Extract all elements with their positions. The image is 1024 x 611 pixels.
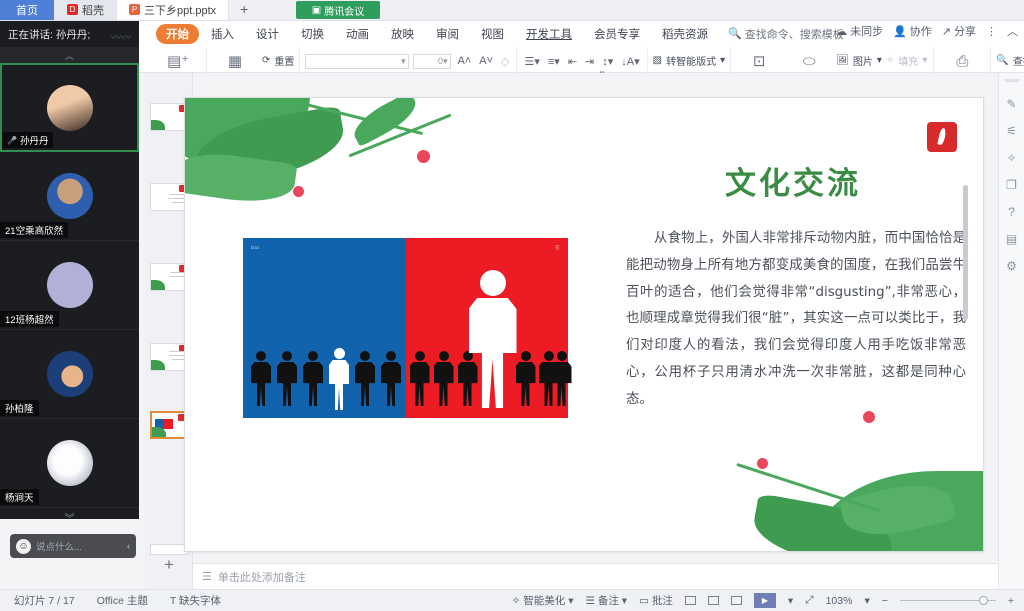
share-icon: ↗ (942, 25, 951, 38)
pictogram-figure (381, 351, 401, 406)
find-label: 查找 (1013, 53, 1024, 68)
comments-button[interactable]: ▭ 批注 (639, 593, 673, 608)
zoom-chevron-down-icon[interactable]: ▾ (864, 595, 869, 607)
cloud-sync-icon: ☁ (836, 25, 847, 38)
meeting-collapse-up-button[interactable]: ︿ (0, 47, 139, 63)
participant-name: 孙柏隆 (5, 401, 34, 415)
thumbnail-text-line (172, 202, 184, 203)
picture-button[interactable]: 🖼 图片 ▾ (836, 53, 882, 68)
properties-icon[interactable]: ⚟ (1006, 124, 1017, 138)
thumbnail-slide-4[interactable] (150, 263, 188, 291)
ribbon-search-placeholder: 查找命令、搜索模板 (745, 26, 844, 42)
notes-bar[interactable]: ☰ 单击此处添加备注 (193, 563, 998, 589)
settings-icon[interactable]: ⚙ (1006, 259, 1017, 273)
thumbnail-text-line (170, 194, 184, 195)
ribbon-search[interactable]: 🔍 查找命令、搜索模板 (728, 26, 844, 42)
remarks-button[interactable]: ☰ 备注 ▾ (586, 593, 628, 608)
rail-handle (1005, 79, 1019, 82)
grow-font-button[interactable]: A˄ (455, 55, 473, 67)
thumbnail-slide-7-current[interactable] (150, 411, 188, 439)
berry-icon (757, 458, 768, 469)
tab-presentation-label: 三下乡ppt.pptx (144, 2, 216, 18)
participant-tile-sunbolong[interactable]: 孙柏隆 (0, 330, 139, 419)
chat-collapse-arrow-icon[interactable]: ‹ (127, 541, 130, 551)
line-spacing-icon[interactable]: ↕▾ (600, 55, 615, 68)
font-size-input[interactable]: 0▾ (413, 54, 451, 69)
zoom-slider-track (900, 600, 996, 601)
document-tab-bar: 首页 D 稻壳 P 三下乡ppt.pptx + (0, 0, 1024, 21)
participant-name: 21空乘高欣然 (5, 223, 63, 237)
thumbnail-slide-3[interactable] (150, 183, 188, 211)
share-label: 分享 (954, 23, 976, 39)
add-slide-button[interactable]: + (145, 555, 193, 575)
increase-indent-icon[interactable]: ⇥ (583, 55, 596, 68)
brand-logo-icon (927, 122, 957, 152)
thumbnail-text-line (170, 276, 184, 277)
zoom-out-button[interactable]: − (882, 595, 888, 607)
pictogram-figure-large (469, 270, 517, 408)
pptx-icon: P (129, 4, 140, 15)
search-icon: 🔍 (996, 55, 1008, 66)
fit-to-window-icon[interactable]: ⤢ (805, 594, 813, 607)
beautify-chevron-down-icon: ▾ (568, 595, 573, 607)
pictogram-figure (434, 351, 454, 406)
pictogram-figure (277, 351, 297, 406)
picture-label: 图片 (853, 53, 873, 68)
thumbnail-scroll-box[interactable] (150, 544, 188, 555)
remarks-chevron-down-icon: ▾ (622, 595, 627, 607)
ribbon-tab-member[interactable]: 会员专享 (584, 24, 650, 44)
decrease-indent-icon[interactable]: ⇤ (566, 55, 579, 68)
tab-docer[interactable]: D 稻壳 (55, 0, 117, 20)
pictogram-left-panel: Out (243, 238, 406, 418)
find-button[interactable]: 🔍 查找 (996, 53, 1024, 68)
reset-icon: ⟳ (262, 55, 270, 66)
avatar (47, 173, 93, 219)
participant-tile-gaoxinran[interactable]: 21空乘高欣然 (0, 152, 139, 241)
notes-placeholder: 单击此处添加备注 (218, 569, 306, 585)
pictogram-figure-highlight (329, 348, 349, 410)
tab-home[interactable]: 首页 (0, 0, 55, 20)
participant-name-badge: 12班杨超然 (0, 311, 59, 327)
microphone-icon: 🎤 (7, 136, 17, 145)
picture-icon: 🖼 (836, 55, 849, 66)
ribbon-tab-animations[interactable]: 动画 (336, 24, 379, 44)
shape-icon: ⬭ (803, 53, 816, 70)
ribbon-tab-transitions[interactable]: 切换 (291, 24, 334, 44)
slide-surface[interactable]: 文化交流 从食物上，外国人非常排斥动物内脏，而中国恰恰是能把动物身上所有地方都变… (184, 97, 984, 552)
play-icon[interactable]: ▶ (754, 593, 776, 608)
meeting-icon: ▣ (312, 5, 321, 16)
collaborate-icon: 👤 (893, 25, 907, 38)
participant-tile-sundandan[interactable]: 🎤 孙丹丹 (0, 63, 139, 152)
normal-view-icon[interactable] (685, 596, 696, 605)
missing-font-button[interactable]: T 缺失字体 (170, 593, 221, 608)
docer-icon: D (67, 4, 78, 15)
reset-button[interactable]: ⟳ 重置 (262, 53, 294, 68)
collaborate-label: 协作 (910, 23, 932, 39)
participant-name-badge: 杨涧天 (0, 489, 39, 505)
participant-name: 杨涧天 (5, 490, 34, 504)
beautify-button[interactable]: ✧ 智能美化 ▾ (512, 593, 574, 608)
thumbnail-slide-2[interactable] (150, 103, 188, 131)
shrink-font-button[interactable]: A˅ (477, 55, 495, 67)
ribbon-tab-view[interactable]: 视图 (471, 24, 514, 44)
status-bar: 幻灯片 7 / 17 Office 主题 T 缺失字体 ✧ 智能美化 ▾ ☰ 备… (0, 589, 1024, 611)
emoji-icon[interactable]: ☺ (16, 539, 31, 554)
tab-home-label: 首页 (16, 2, 38, 18)
number-list-icon[interactable]: ≡▾ (546, 55, 562, 68)
meeting-video-panel: 正在讲话: 孙丹丹; 〰〰 ︿ 🎤 孙丹丹 21空乘高欣然 12班杨超然 (0, 21, 139, 519)
font-icon: T (170, 595, 176, 607)
clear-format-icon[interactable]: ◇ (499, 55, 511, 68)
slide-counter: 幻灯片 7 / 17 (14, 593, 75, 608)
new-tab-button[interactable]: + (229, 0, 259, 20)
slide-canvas-area: 文化交流 从食物上，外国人非常排斥动物内脏，而中国恰恰是能把动物身上所有地方都变… (193, 73, 998, 563)
layers-icon[interactable]: ❐ (1006, 178, 1017, 192)
thumbnail-text-line (168, 198, 184, 199)
sync-status-button[interactable]: ☁ 未同步 (836, 23, 883, 39)
beautify-label: 智能美化 (523, 595, 565, 607)
fill-icon: ✧ (886, 55, 894, 66)
remarks-label: 备注 (598, 595, 619, 607)
thumbnail-text-line (172, 359, 184, 360)
participant-name-badge: 21空乘高欣然 (0, 222, 68, 238)
participant-name-badge: 🎤 孙丹丹 (2, 132, 53, 148)
pictogram-figure (552, 351, 572, 406)
wps-presentation-window: 首页 D 稻壳 P 三下乡ppt.pptx + ▣ 腾讯会议 开始 插入 设计 … (0, 0, 1024, 611)
comments-icon: ▭ (639, 595, 649, 607)
thumbnail-text-line (169, 355, 184, 356)
participant-name-badge: 孙柏隆 (0, 400, 39, 416)
zoom-slider-knob[interactable] (979, 596, 988, 605)
resources-icon[interactable]: ▤ (1006, 232, 1017, 246)
shapes-panel-icon[interactable]: ✎ (1006, 97, 1016, 111)
zoom-level-label[interactable]: 103% (826, 595, 853, 607)
berry-icon (293, 186, 304, 197)
leaf-decoration-icon (150, 360, 165, 371)
ribbon-right-actions: ☁ 未同步 👤 协作 ↗ 分享 ⋮ ︿ (836, 23, 1018, 39)
theme-label[interactable]: Office 主题 (97, 593, 148, 608)
leaf-decoration-icon (150, 120, 165, 131)
tab-docer-label: 稻壳 (82, 2, 104, 18)
slide-image-pictogram[interactable]: Out (243, 238, 568, 418)
beautify-icon: ✧ (512, 595, 521, 607)
ribbon-collapse-button[interactable]: ︿ (1007, 23, 1018, 39)
fill-chevron-down-icon: ▾ (922, 55, 927, 66)
sync-status-label: 未同步 (850, 23, 883, 39)
collaborate-button[interactable]: 👤 协作 (893, 23, 932, 39)
ribbon-tab-insert[interactable]: 插入 (201, 24, 244, 44)
font-size-value: 0 (438, 56, 443, 66)
leaf-decoration-icon (150, 427, 166, 439)
font-name-input[interactable]: ▾ (305, 54, 409, 69)
fill-button[interactable]: ✧ 填充 ▾ (886, 53, 928, 68)
berry-icon (417, 150, 430, 163)
ribbon-tab-slideshow[interactable]: 放映 (381, 24, 424, 44)
reading-view-icon[interactable] (731, 596, 742, 605)
reset-label: 重置 (274, 53, 294, 68)
avatar (47, 440, 93, 486)
pictogram-figure (410, 351, 430, 406)
meeting-speaking-label: 正在讲话: 孙丹丹; (8, 27, 90, 42)
pictogram-figure (251, 351, 271, 406)
participant-name: 孙丹丹 (20, 133, 49, 147)
meeting-speaking-header: 正在讲话: 孙丹丹; 〰〰 (0, 21, 139, 47)
picture-chevron-down-icon: ▾ (877, 55, 882, 66)
smart-typeset-icon: ▧ (653, 55, 662, 66)
thumbnail-slide-5[interactable] (150, 343, 188, 371)
zoom-slider[interactable] (900, 600, 996, 601)
notes-icon: ☰ (202, 570, 212, 583)
ribbon-tab-docer-resource[interactable]: 稻壳资源 (652, 24, 718, 44)
right-tool-rail: ✎ ⚟ ✧ ❐ ? ▤ ⚙ (998, 73, 1024, 589)
zoom-in-button[interactable]: + (1008, 595, 1014, 607)
new-slide-icon: ▤⁺ (167, 52, 189, 70)
avatar (47, 351, 93, 397)
status-right: ✧ 智能美化 ▾ ☰ 备注 ▾ ▭ 批注 ▶ ▾ ⤢ 103% ▾ − (512, 593, 1024, 608)
pictogram-figure (355, 351, 375, 406)
chat-input-placeholder[interactable]: 说点什么... (36, 539, 122, 553)
smart-typeset-chevron-down-icon: ▾ (720, 55, 725, 66)
participant-tile-yangjiantian[interactable]: 杨涧天 (0, 419, 139, 508)
slide-sorter-icon[interactable] (708, 596, 719, 605)
pictogram-figure (303, 351, 323, 406)
present-tools-icon: ⎙ (956, 53, 968, 70)
ribbon-more-button[interactable]: ⋮ (986, 25, 997, 38)
paragraph-row-top: ☰▾ ≡▾ ⇤ ⇥ ↕▾ ↓A▾ (522, 55, 641, 68)
layout-icon: ▦ (228, 52, 242, 70)
smart-typeset-label: 转智能版式 (666, 53, 716, 68)
search-icon: 🔍 (728, 27, 742, 40)
remarks-icon: ☰ (586, 595, 595, 607)
font-row-top: ▾ 0▾ A˄ A˅ ◇ (305, 54, 511, 69)
thumbnail-text-line (170, 272, 184, 273)
ribbon-tab-start[interactable]: 开始 (156, 24, 199, 44)
effects-icon[interactable]: ✧ (1006, 151, 1016, 165)
pictogram-left-caption: Out (251, 245, 259, 250)
participant-name: 12班杨超然 (5, 312, 54, 326)
participant-tile-yangchaoran[interactable]: 12班杨超然 (0, 241, 139, 330)
slide-body-text[interactable]: 从食物上，外国人非常排斥动物内脏，而中国恰恰是能把动物身上所有地方都变成美食的国… (626, 226, 966, 414)
ribbon-tab-design[interactable]: 设计 (246, 24, 289, 44)
ribbon-tab-review[interactable]: 审阅 (426, 24, 469, 44)
pictogram-right-panel: 在 (406, 238, 569, 418)
avatar (47, 85, 93, 131)
meeting-chip-label: 腾讯会议 (324, 3, 364, 18)
comments-label: 批注 (652, 595, 673, 607)
ribbon: 开始 插入 设计 切换 动画 放映 审阅 视图 开发工具 会员专享 稻壳资源 🔍… (0, 21, 1024, 73)
slide-title[interactable]: 文化交流 (628, 158, 958, 203)
meeting-collapse-down-button[interactable]: ︾ (0, 508, 139, 526)
share-button[interactable]: ↗ 分享 (942, 23, 976, 39)
smart-typeset-button[interactable]: ▧ 转智能版式 ▾ (653, 53, 725, 68)
avatar (47, 262, 93, 308)
textbox-icon: ⊡ (753, 52, 766, 70)
meeting-status-chip[interactable]: ▣ 腾讯会议 (296, 1, 380, 19)
sort-icon[interactable]: ↓A▾ (619, 55, 641, 68)
bullet-list-icon[interactable]: ☰▾ (522, 55, 541, 68)
tab-presentation-file[interactable]: P 三下乡ppt.pptx (117, 0, 229, 20)
help-icon[interactable]: ? (1008, 205, 1015, 219)
ribbon-tab-developer[interactable]: 开发工具 (516, 24, 582, 44)
play-chevron-down-icon[interactable]: ▾ (788, 595, 793, 607)
fill-label: 填充 (898, 53, 918, 68)
canvas-vertical-scrollbar[interactable] (963, 185, 968, 320)
pictogram-right-caption: 在 (555, 245, 560, 251)
thumbnail-text-line (169, 351, 184, 352)
audio-wave-icon: 〰〰 (111, 29, 131, 44)
status-left: 幻灯片 7 / 17 Office 主题 T 缺失字体 (0, 593, 221, 608)
pictogram-figure (516, 351, 536, 406)
meeting-chat-input-bar[interactable]: ☺ 说点什么... ‹ (10, 534, 136, 558)
missing-font-label: 缺失字体 (179, 595, 221, 607)
leaf-decoration-icon (150, 280, 165, 291)
